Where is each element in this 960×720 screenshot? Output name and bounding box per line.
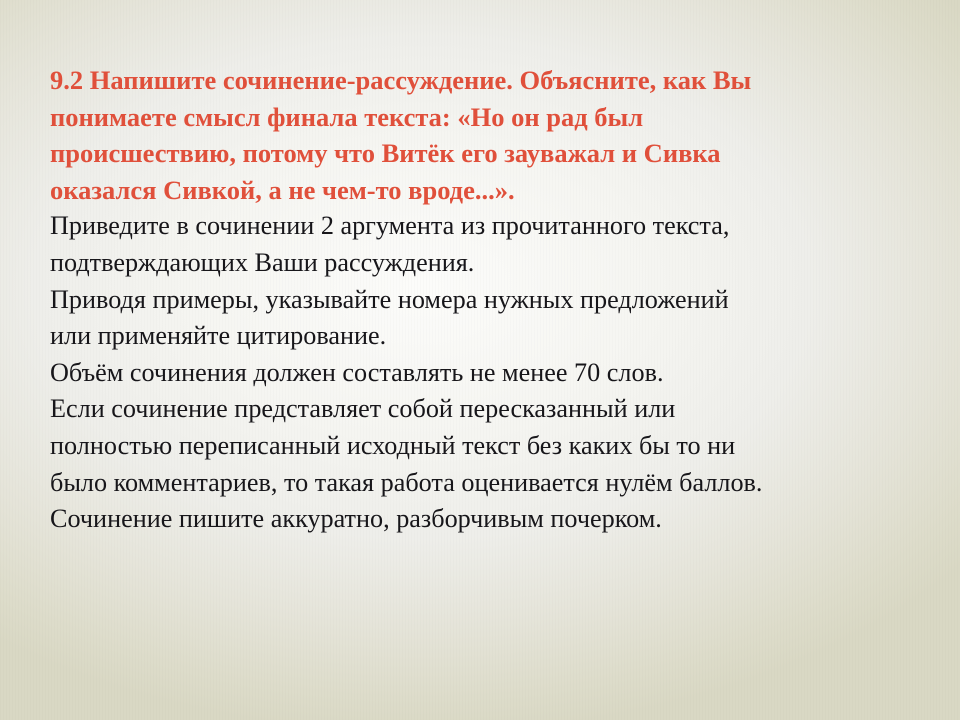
instruction-line: Объём сочинения должен составлять не мен…	[50, 355, 942, 392]
instruction-line: было комментариев, то такая работа оцени…	[50, 465, 942, 502]
slide-content: 9.2 Напишите сочинение-рассуждение. Объя…	[50, 62, 942, 538]
instruction-line: или применяйте цитирование.	[50, 318, 942, 355]
heading-line: оказался Сивкой, а не чем-то вроде...».	[50, 172, 942, 209]
instruction-line: Приведите в сочинении 2 аргумента из про…	[50, 208, 942, 245]
heading-line: происшествию, потому что Витёк его заува…	[50, 135, 942, 172]
presentation-slide: 9.2 Напишите сочинение-рассуждение. Объя…	[0, 0, 960, 720]
instruction-line: Если сочинение представляет собой переск…	[50, 391, 942, 428]
instruction-line: подтверждающих Ваши рассуждения.	[50, 245, 942, 282]
heading-line: понимаете смысл финала текста: «Но он ра…	[50, 99, 942, 136]
instruction-line: Приводя примеры, указывайте номера нужны…	[50, 282, 942, 319]
heading-line: 9.2 Напишите сочинение-рассуждение. Объя…	[50, 62, 942, 99]
instruction-line: Сочинение пишите аккуратно, разборчивым …	[50, 501, 942, 538]
instruction-line: полностью переписанный исходный текст бе…	[50, 428, 942, 465]
task-heading: 9.2 Напишите сочинение-рассуждение. Объя…	[50, 62, 942, 208]
task-instructions: Приведите в сочинении 2 аргумента из про…	[50, 208, 942, 537]
